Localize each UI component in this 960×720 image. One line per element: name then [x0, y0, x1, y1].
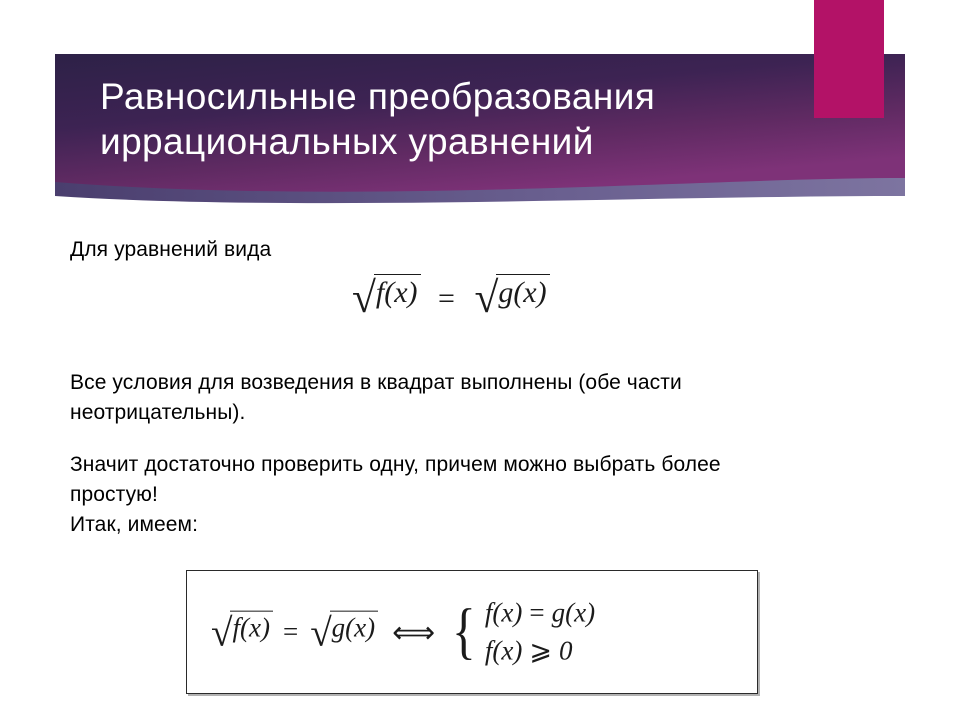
radical-lhs: √f(x) — [209, 615, 273, 649]
system-row-1-right: 0 — [559, 636, 573, 666]
intro-text: Для уравнений вида — [70, 235, 690, 265]
relation-symbol: = — [273, 617, 308, 648]
page-title: Равносильные преобразования иррациональн… — [100, 74, 800, 164]
radicand-rhs: g(x) — [496, 274, 549, 310]
title-line-2: иррациональных уравнений — [100, 119, 800, 164]
slide-body: Для уравнений вида √f(x) = √g(x) Все усл… — [0, 210, 960, 720]
radical-sign-icon: √ — [474, 282, 498, 315]
slide: Равносильные преобразования иррациональн… — [0, 0, 960, 720]
conclusion-text: Значит достаточно проверить одну, причем… — [70, 450, 750, 510]
system-row-0-left: f(x) — [485, 598, 522, 628]
radical-sign-icon: √ — [310, 619, 331, 648]
radical-sign-icon: √ — [211, 619, 232, 648]
equivalence-icon: ⟺ — [378, 616, 449, 651]
relation-symbol: = — [428, 282, 465, 315]
radicand-rhs: g(x) — [330, 611, 378, 644]
left-brace-icon: { — [452, 608, 476, 656]
system-row: f(x)⩾0 — [485, 632, 595, 670]
itak-text: Итак, имеем: — [70, 510, 690, 540]
system-rows: f(x)=g(x) f(x)⩾0 — [481, 594, 595, 671]
radical-sign-icon: √ — [352, 282, 376, 315]
title-banner: Равносильные преобразования иррациональн… — [0, 0, 960, 210]
system-row: f(x)=g(x) — [485, 594, 595, 632]
formula-box-content: √f(x) = √g(x) ⟺ { f(x)=g(x) f(x)⩾0 — [209, 594, 595, 671]
system-of-equations: { f(x)=g(x) f(x)⩾0 — [449, 594, 595, 671]
radicand-lhs: f(x) — [374, 274, 421, 310]
condition-text: Все условия для возведения в квадрат вып… — [70, 368, 750, 428]
system-row-0-op: = — [522, 598, 551, 628]
formula-top: √f(x) = √g(x) — [350, 278, 550, 316]
system-row-1-op: ⩾ — [522, 636, 559, 666]
radical-rhs: √g(x) — [308, 615, 378, 649]
accent-bar — [814, 0, 884, 118]
radicand-lhs: f(x) — [230, 611, 272, 644]
system-row-0-right: g(x) — [552, 598, 595, 628]
title-line-1: Равносильные преобразования — [100, 74, 800, 119]
system-row-1-left: f(x) — [485, 636, 522, 666]
formula-box: √f(x) = √g(x) ⟺ { f(x)=g(x) f(x)⩾0 — [186, 570, 758, 694]
radical-rhs: √g(x) — [472, 278, 549, 316]
radical-lhs: √f(x) — [350, 278, 421, 316]
